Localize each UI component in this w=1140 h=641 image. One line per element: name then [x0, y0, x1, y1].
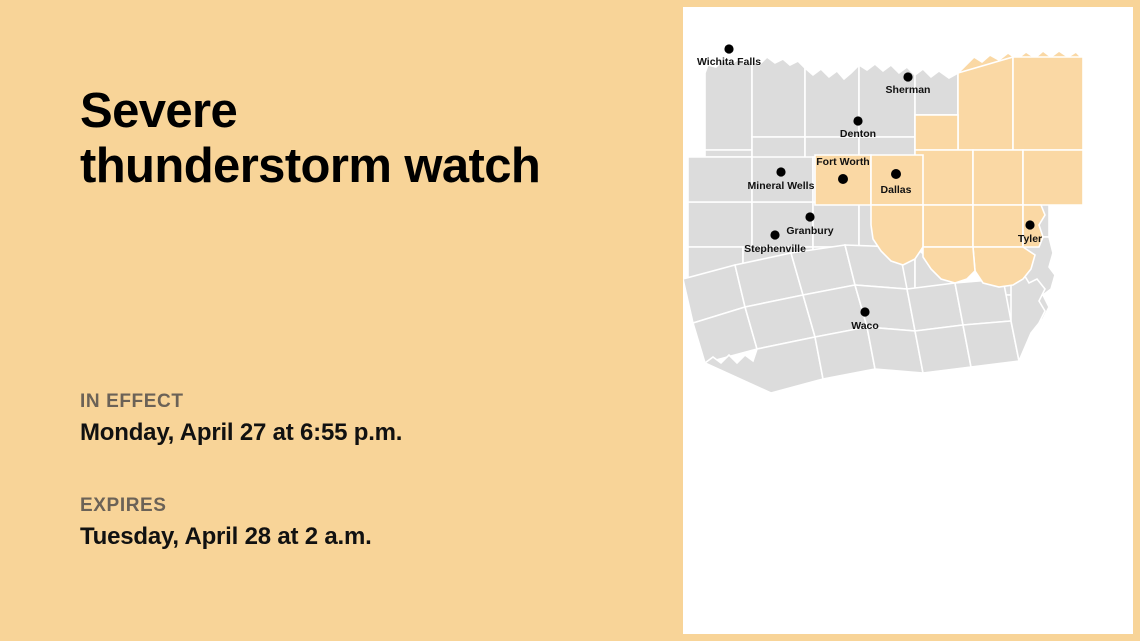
expires-value: Tuesday, April 28 at 2 a.m.	[80, 521, 372, 552]
city-label: Dallas	[881, 184, 912, 196]
city-dot	[891, 169, 901, 179]
city-label: Mineral Wells	[748, 180, 815, 192]
city-dot	[853, 116, 862, 125]
city-dot	[776, 167, 785, 176]
in-effect-block: IN EFFECT Monday, April 27 at 6:55 p.m.	[80, 389, 402, 448]
city-label: Denton	[840, 128, 876, 140]
expires-block: EXPIRES Tuesday, April 28 at 2 a.m.	[80, 493, 372, 552]
page-title: Severe thunderstorm watch	[80, 84, 550, 195]
city-dot	[860, 307, 869, 316]
city-dot	[903, 72, 912, 81]
in-effect-label: IN EFFECT	[80, 389, 402, 415]
city-dot	[724, 44, 733, 53]
city-dot	[770, 230, 779, 239]
city-label: Tyler	[1018, 233, 1042, 245]
in-effect-value: Monday, April 27 at 6:55 p.m.	[80, 417, 402, 448]
city-dot	[1025, 220, 1034, 229]
county-map: Wichita Falls Sherman Denton Fort Worth …	[683, 7, 1133, 634]
city-label: Granbury	[786, 225, 833, 237]
city-label: Stephenville	[744, 243, 806, 255]
city-label: Sherman	[886, 84, 931, 96]
city-label: Wichita Falls	[697, 56, 761, 68]
expires-label: EXPIRES	[80, 493, 372, 519]
city-dot	[838, 174, 848, 184]
alert-info-panel: Severe thunderstorm watch IN EFFECT Mond…	[0, 0, 683, 641]
city-label: Waco	[851, 320, 879, 332]
watch-area-map-panel: Wichita Falls Sherman Denton Fort Worth …	[683, 7, 1133, 634]
city-label: Fort Worth	[816, 156, 869, 168]
city-dot	[805, 212, 814, 221]
